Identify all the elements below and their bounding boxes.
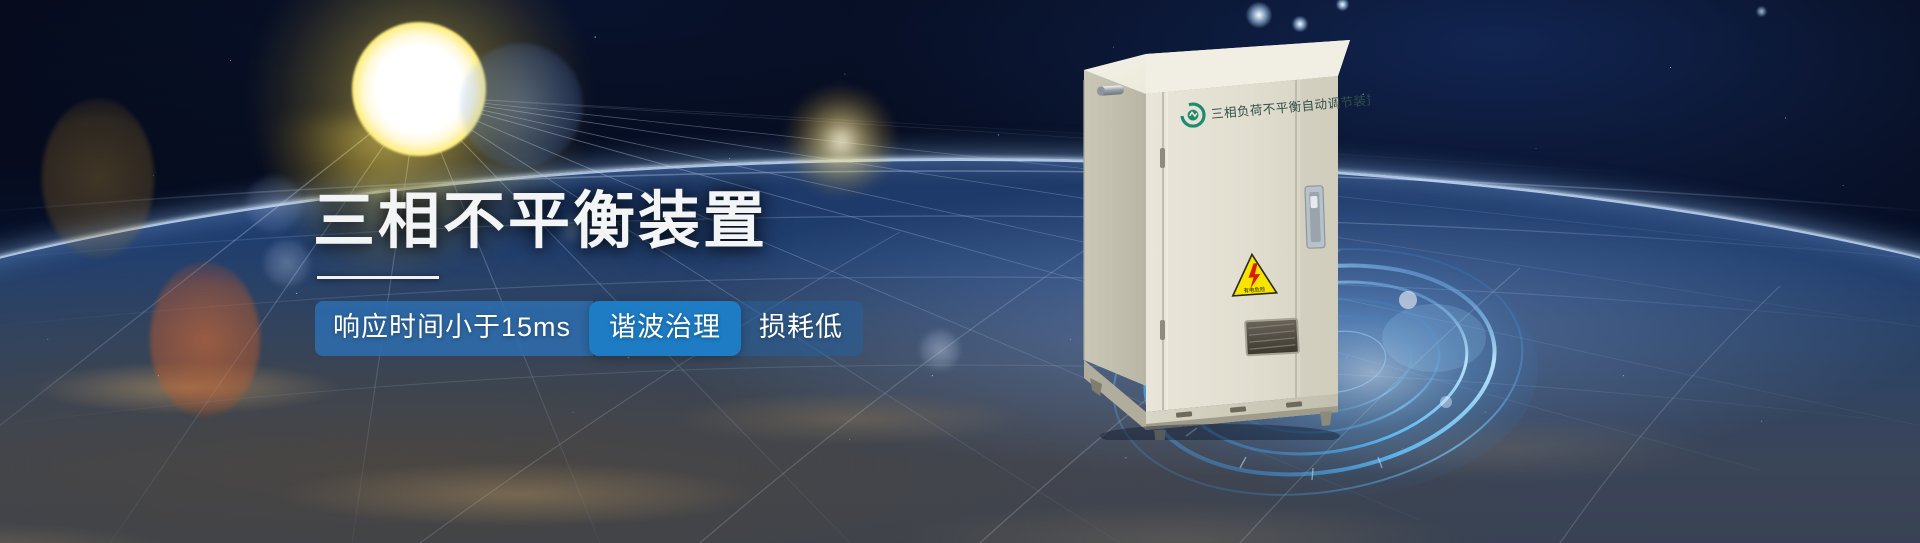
product-cabinet: 三相负荷不平衡自动调节装置 有电危险 — [1050, 20, 1370, 440]
feature-badge-harmonic-control[interactable]: 谐波治理 — [589, 301, 741, 356]
sparkle-icon — [1756, 6, 1767, 17]
feature-badge-low-loss[interactable]: 损耗低 — [733, 301, 863, 356]
vent-louver-icon — [1245, 319, 1299, 356]
feature-badge-list: 响应时间小于15ms 谐波治理 损耗低 — [315, 301, 1013, 356]
product-hero-banner: 三相负荷不平衡自动调节装置 有电危险 — [0, 0, 1920, 543]
sun-flare-icon — [352, 22, 486, 156]
title-divider — [317, 276, 439, 279]
feature-badge-response-time[interactable]: 响应时间小于15ms — [315, 301, 593, 356]
page-title: 三相不平衡装置 — [313, 189, 1013, 256]
recessed-handle-icon — [1305, 186, 1325, 249]
banner-copy: 三相不平衡装置 响应时间小于15ms 谐波治理 损耗低 — [313, 189, 1013, 356]
door-handle-icon — [1097, 85, 1124, 96]
secondary-star-glow — [786, 86, 896, 196]
